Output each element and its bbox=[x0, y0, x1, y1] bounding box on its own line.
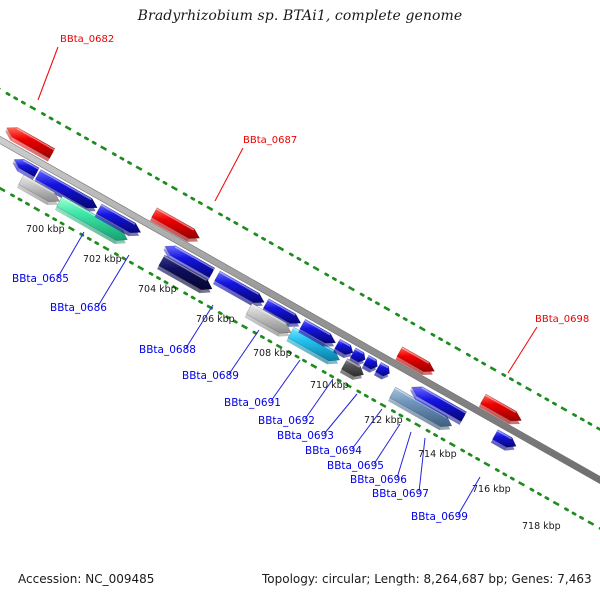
gc-track-mark bbox=[376, 303, 378, 304]
gc-track-mark bbox=[484, 463, 490, 466]
gc-track-mark bbox=[483, 363, 485, 364]
gc-track-mark bbox=[361, 294, 363, 295]
gc-track-mark bbox=[157, 278, 159, 279]
gc-track-mark bbox=[207, 207, 213, 210]
gc-track-mark bbox=[164, 182, 166, 183]
scale-tick-label: 704 kbp bbox=[138, 284, 177, 295]
gc-track-mark bbox=[380, 404, 386, 407]
gc-track-mark bbox=[263, 238, 265, 239]
gc-track-mark bbox=[440, 339, 442, 340]
gc-track-mark bbox=[261, 336, 263, 337]
gc-track-mark bbox=[34, 208, 40, 211]
gc-track-mark bbox=[455, 347, 461, 350]
gc-track-mark bbox=[150, 273, 152, 274]
gc-track-mark bbox=[298, 258, 300, 259]
gc-track-mark bbox=[296, 356, 298, 357]
gc-track-mark bbox=[333, 278, 335, 279]
gc-track-mark bbox=[0, 188, 5, 191]
gc-track-mark bbox=[200, 301, 202, 302]
gc-track-mark bbox=[561, 407, 567, 410]
gene-label-leader-line bbox=[38, 47, 58, 100]
gc-track-mark bbox=[30, 106, 36, 109]
gc-track-mark bbox=[192, 198, 194, 199]
gene-label[interactable]: BBta_0689 bbox=[182, 370, 239, 382]
gc-track-mark bbox=[22, 102, 24, 103]
gc-track-mark bbox=[101, 147, 107, 150]
gc-track-mark bbox=[69, 227, 75, 230]
gc-track-mark bbox=[447, 343, 449, 344]
gc-track-mark bbox=[538, 394, 540, 395]
gc-track-mark bbox=[462, 450, 464, 451]
gc-track-mark bbox=[306, 263, 308, 264]
scale-tick-label: 718 kbp bbox=[522, 521, 561, 532]
gc-track-mark bbox=[130, 262, 132, 263]
gc-track-mark bbox=[369, 298, 371, 299]
gc-track-mark bbox=[469, 454, 471, 455]
gc-track-mark bbox=[96, 243, 98, 244]
gc-track-mark bbox=[581, 419, 583, 420]
gc-track-mark bbox=[331, 376, 333, 377]
gc-track-mark bbox=[511, 478, 513, 479]
gene-label[interactable]: BBta_0699 bbox=[411, 511, 468, 523]
genome-map-canvas: Bradyrhizobium sp. BTAi1, complete genom… bbox=[0, 0, 600, 600]
gc-track-mark bbox=[323, 371, 325, 372]
gene-label[interactable]: BBta_0697 bbox=[372, 488, 429, 500]
gc-track-mark bbox=[19, 199, 21, 200]
gc-track-mark bbox=[538, 493, 540, 494]
gc-track-mark bbox=[392, 411, 394, 412]
gc-track-mark bbox=[597, 427, 600, 430]
gc-track-mark bbox=[442, 439, 444, 440]
gc-track-mark bbox=[121, 158, 123, 159]
gc-track-mark bbox=[138, 266, 144, 269]
gene-label[interactable]: BBta_0694 bbox=[305, 445, 362, 457]
gene-label-leader-line bbox=[458, 477, 480, 515]
gene-label-leader-line bbox=[508, 327, 537, 373]
gene-label[interactable]: BBta_0692 bbox=[258, 415, 315, 427]
gc-track-mark bbox=[434, 434, 436, 435]
gc-track-mark bbox=[255, 234, 257, 235]
gene-label[interactable]: BBta_0685 bbox=[12, 273, 69, 285]
gc-track-mark bbox=[42, 113, 44, 114]
gc-track-mark bbox=[165, 282, 167, 283]
gc-track-mark bbox=[588, 521, 594, 524]
gc-track-mark bbox=[477, 458, 479, 459]
genome-diagram: 700 kbp702 kbp704 kbp706 kbp708 kbp710 k… bbox=[0, 0, 600, 600]
gc-track-mark bbox=[185, 293, 187, 294]
gc-track-mark bbox=[384, 307, 390, 310]
scale-tick-labels: 700 kbp702 kbp704 kbp706 kbp708 kbp710 k… bbox=[26, 224, 561, 532]
gc-track-mark bbox=[467, 354, 469, 355]
gc-track-mark bbox=[580, 517, 582, 518]
gene-label[interactable]: BBta_0682 bbox=[60, 34, 114, 45]
gc-track-mark bbox=[129, 162, 131, 163]
gc-track-mark bbox=[326, 274, 328, 275]
scale-tick-label: 708 kbp bbox=[253, 348, 292, 359]
gc-track-mark bbox=[503, 374, 505, 375]
gc-track-mark bbox=[242, 227, 248, 230]
gc-track-mark bbox=[490, 367, 496, 370]
gc-track-mark bbox=[15, 98, 17, 99]
gc-track-mark bbox=[449, 443, 455, 446]
gc-track-mark bbox=[427, 430, 429, 431]
gc-track-mark bbox=[518, 383, 520, 384]
gene-label-layer: BBta_0682BBta_0687BBta_0698BBta_0685BBta… bbox=[12, 34, 589, 523]
gene-label[interactable]: BBta_0686 bbox=[50, 302, 107, 314]
gc-track-mark bbox=[149, 174, 151, 175]
gc-track-mark bbox=[526, 387, 532, 390]
gc-track-mark bbox=[156, 178, 158, 179]
gc-track-mark bbox=[88, 238, 90, 239]
gene-label-leader-line bbox=[324, 394, 357, 434]
gene-label[interactable]: BBta_0695 bbox=[327, 460, 384, 472]
gene-label[interactable]: BBta_0691 bbox=[224, 397, 281, 409]
scale-tick-label: 716 kbp bbox=[472, 484, 511, 495]
gc-track-mark bbox=[235, 222, 237, 223]
gene-label[interactable]: BBta_0688 bbox=[139, 344, 196, 356]
gene-label-leader-line bbox=[186, 305, 213, 348]
gc-track-mark bbox=[349, 287, 355, 290]
gc-track-mark bbox=[136, 167, 142, 170]
gc-track-mark bbox=[278, 247, 284, 250]
scale-tick-label: 702 kbp bbox=[83, 254, 122, 265]
gene-label-leader-line bbox=[397, 432, 411, 478]
gc-track-mark bbox=[50, 118, 52, 119]
gc-track-mark bbox=[46, 214, 48, 215]
gc-track-mark bbox=[290, 254, 292, 255]
gc-track-mark bbox=[432, 334, 434, 335]
gene-label[interactable]: BBta_0698 bbox=[535, 314, 589, 325]
gc-track-mark bbox=[407, 419, 409, 420]
gc-track-mark bbox=[93, 142, 95, 143]
gc-track-mark bbox=[519, 482, 525, 485]
scale-tick-label: 712 kbp bbox=[364, 415, 403, 426]
gc-track-mark bbox=[184, 194, 186, 195]
gene-label[interactable]: BBta_0693 bbox=[277, 430, 334, 442]
gc-track-mark bbox=[58, 122, 60, 123]
gc-track-mark bbox=[7, 93, 9, 94]
gc-track-mark bbox=[103, 247, 109, 250]
gc-track-mark bbox=[365, 395, 367, 396]
gc-track-mark bbox=[85, 138, 87, 139]
gc-track-mark bbox=[412, 323, 414, 324]
gc-track-mark bbox=[589, 423, 591, 424]
gene-label-leader-line bbox=[58, 232, 84, 277]
gc-track-mark bbox=[227, 218, 229, 219]
gene-label-leader-line bbox=[374, 424, 400, 464]
gc-track-mark bbox=[510, 379, 512, 380]
gc-track-mark bbox=[192, 297, 194, 298]
gc-track-mark bbox=[242, 325, 248, 328]
gc-track-mark bbox=[419, 327, 425, 330]
gc-track-mark bbox=[531, 489, 533, 490]
gc-track-mark bbox=[415, 423, 421, 426]
gene-label-leader-line bbox=[419, 438, 425, 492]
gc-track-mark bbox=[373, 399, 375, 400]
gc-track-mark bbox=[396, 314, 398, 315]
gc-track-mark bbox=[269, 341, 271, 342]
gc-track-mark bbox=[172, 187, 178, 190]
genome-stats-text: Topology: circular; Length: 8,264,687 bp… bbox=[262, 572, 592, 586]
gc-track-mark bbox=[504, 474, 506, 475]
gc-track-mark bbox=[78, 134, 80, 135]
gc-track-mark bbox=[574, 414, 576, 415]
gc-track-mark bbox=[11, 195, 13, 196]
gc-track-mark bbox=[254, 332, 256, 333]
gc-track-mark bbox=[199, 202, 201, 203]
gene-label-leader-line bbox=[271, 360, 300, 401]
gc-track-mark bbox=[113, 154, 115, 155]
gc-track-mark bbox=[404, 318, 406, 319]
gc-track-mark bbox=[496, 469, 498, 470]
gc-track-mark bbox=[573, 513, 575, 514]
gc-track-mark bbox=[553, 502, 559, 505]
gc-track-mark bbox=[123, 258, 125, 259]
gc-track-mark bbox=[303, 360, 305, 361]
gc-track-mark bbox=[475, 359, 477, 360]
gc-track-mark bbox=[566, 509, 568, 510]
gc-track-mark bbox=[65, 126, 71, 129]
accession-text: Accession: NC_009485 bbox=[18, 572, 154, 586]
gc-track-mark bbox=[313, 267, 319, 270]
gene-label[interactable]: BBta_0696 bbox=[350, 474, 407, 486]
scale-tick-label: 710 kbp bbox=[310, 380, 349, 391]
gene-label-leader-line bbox=[215, 148, 243, 201]
gc-track-mark bbox=[26, 203, 28, 204]
gc-track-mark bbox=[311, 364, 317, 367]
gc-track-mark bbox=[270, 243, 272, 244]
gc-track-mark bbox=[546, 498, 548, 499]
gc-track-mark bbox=[553, 403, 555, 404]
gc-track-mark bbox=[219, 214, 221, 215]
gc-track-mark bbox=[358, 391, 360, 392]
gc-track-mark bbox=[341, 283, 343, 284]
scale-tick-label: 700 kbp bbox=[26, 224, 65, 235]
gc-track-mark bbox=[54, 219, 56, 220]
gene-label[interactable]: BBta_0687 bbox=[243, 135, 297, 146]
gc-track-mark bbox=[546, 399, 548, 400]
